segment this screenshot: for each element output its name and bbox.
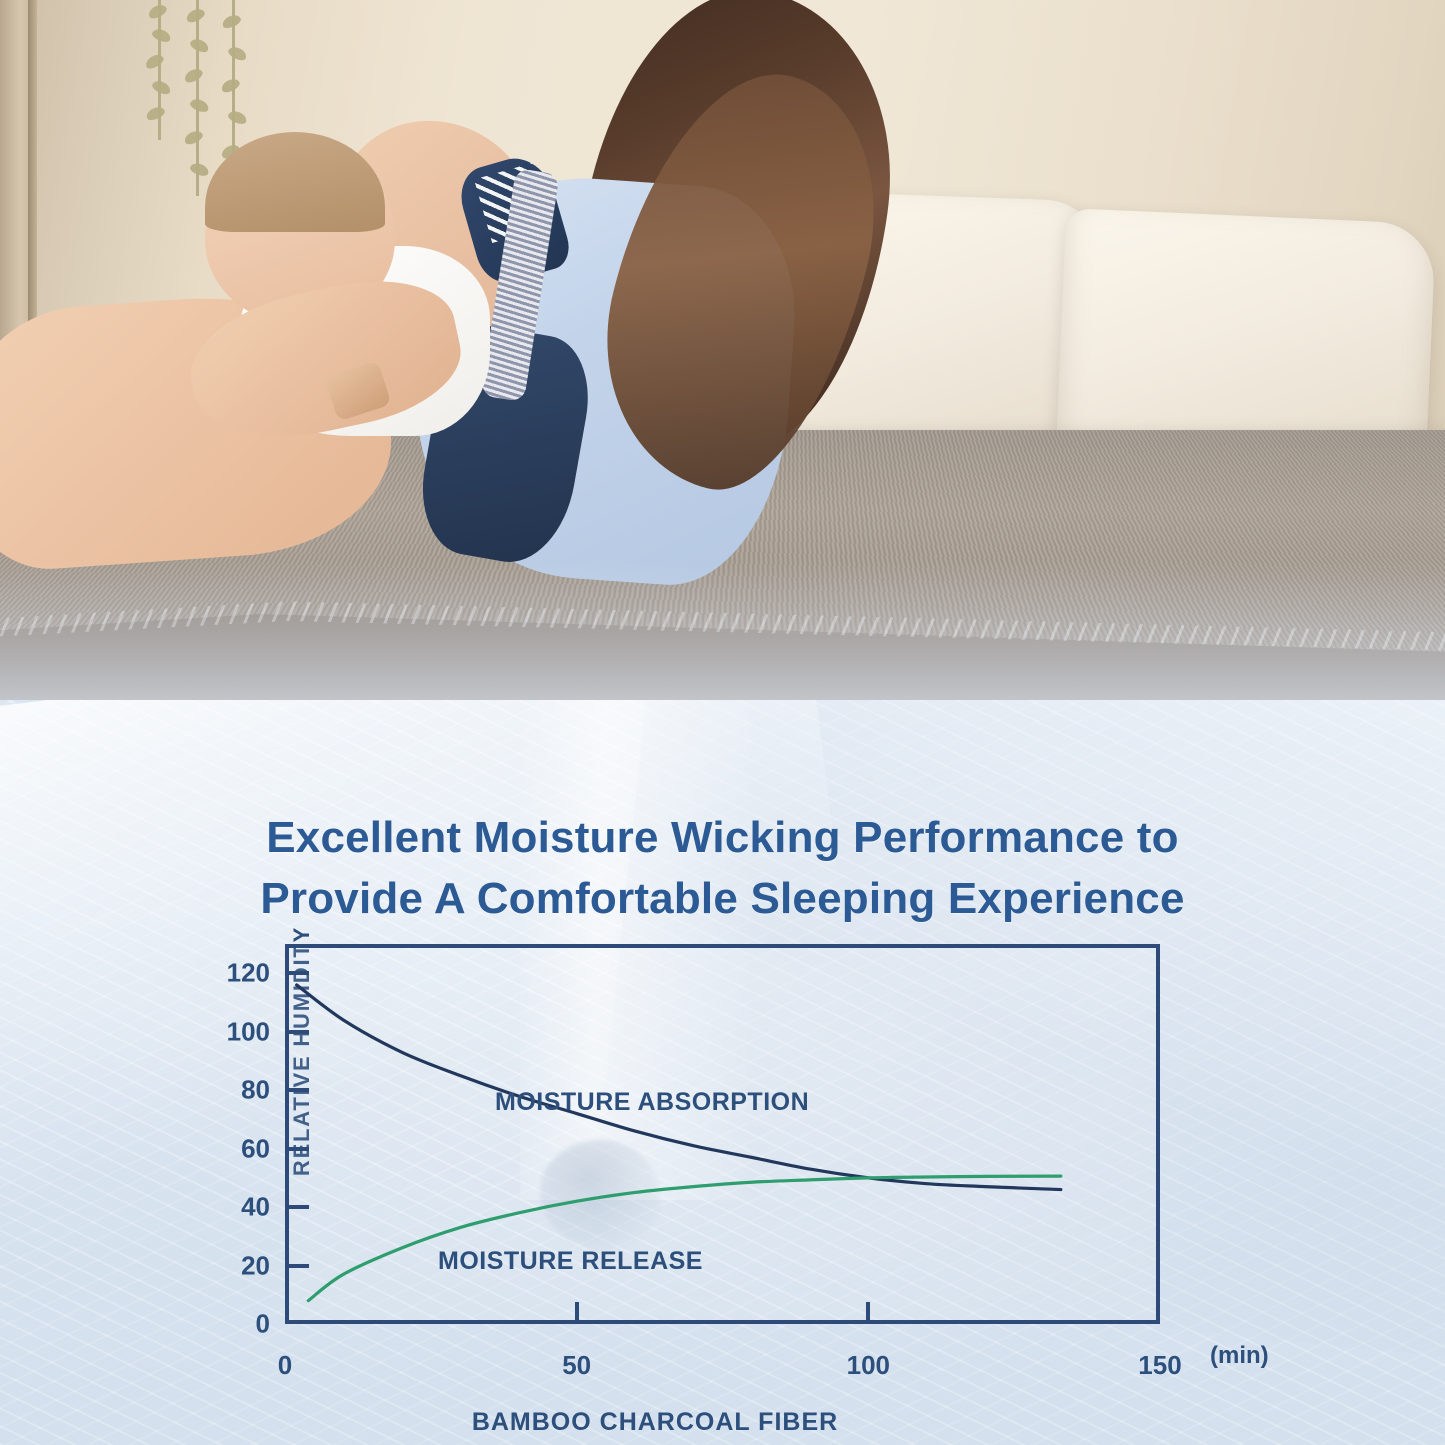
y-tick-label: 0 [180,1309,270,1340]
y-tick-label: 20 [180,1250,270,1281]
infographic-panel: Excellent Moisture Wicking Performance t… [0,700,1445,1445]
series-label-release: MOISTURE RELEASE [438,1247,703,1276]
headline-line-2: Provide A Comfortable Sleeping Experienc… [0,869,1445,930]
y-tick-label: 60 [180,1133,270,1164]
baby-hair [205,132,385,232]
series-label-absorption: MOISTURE ABSORPTION [495,1088,809,1117]
x-tick-label: 100 [847,1350,890,1381]
curve-moisture-release [308,1176,1061,1301]
humidity-chart: RELATIVE HUMIDITY 020406080100120 050100… [150,930,1350,1430]
x-axis-title: BAMBOO CHARCOAL FIBER [150,1408,1160,1437]
x-axis-unit: (min) [1210,1342,1269,1370]
mother-and-baby [0,0,900,640]
y-tick-label: 40 [180,1192,270,1223]
x-tick-label: 0 [278,1350,292,1381]
page-root: Excellent Moisture Wicking Performance t… [0,0,1445,1445]
y-tick-label: 120 [180,958,270,989]
headline-line-1: Excellent Moisture Wicking Performance t… [266,813,1178,862]
chart-curves [285,944,1160,1324]
x-tick-label: 150 [1138,1350,1181,1381]
y-tick-label: 100 [180,1016,270,1047]
x-tick-label: 50 [562,1350,591,1381]
y-tick-label: 80 [180,1075,270,1106]
page-title: Excellent Moisture Wicking Performance t… [0,808,1445,929]
hero-photo [0,0,1445,790]
